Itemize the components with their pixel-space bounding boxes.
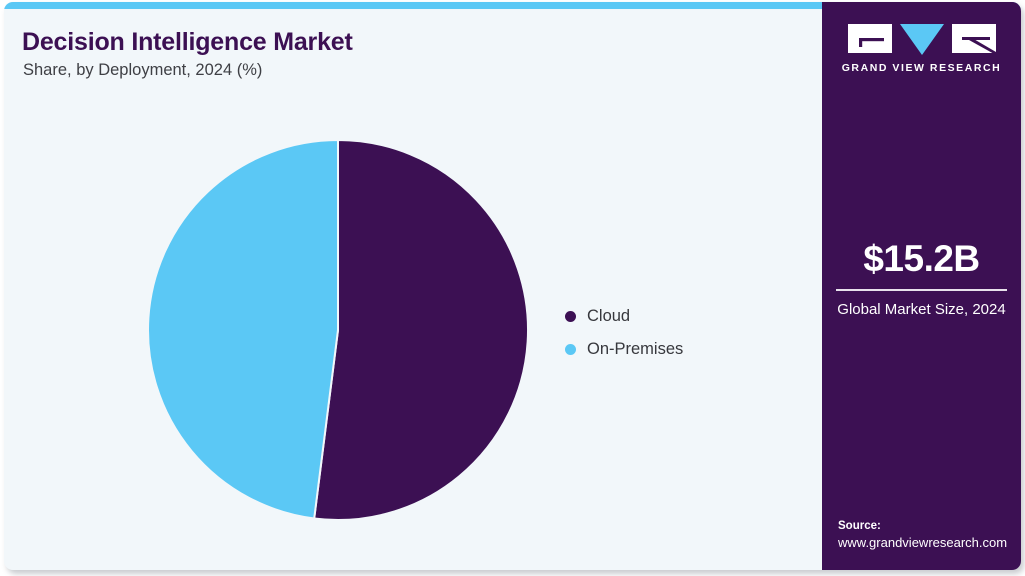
chart-legend: Cloud On-Premises <box>565 300 683 366</box>
source-url[interactable]: www.grandviewresearch.com <box>838 534 1021 552</box>
stat-value: $15.2B <box>822 240 1021 277</box>
pie-slice-on-premises[interactable] <box>148 140 338 519</box>
page-title: Decision Intelligence Market <box>22 28 353 57</box>
pie-slice-cloud[interactable] <box>314 140 528 520</box>
gvr-logo-icon <box>848 24 996 56</box>
stat-caption: Global Market Size, 2024 <box>822 300 1021 320</box>
pie-chart-svg <box>143 135 533 525</box>
source-block: Source: www.grandviewresearch.com <box>838 518 1021 552</box>
legend-item-cloud[interactable]: Cloud <box>565 300 683 333</box>
side-panel: GRAND VIEW RESEARCH $15.2B Global Market… <box>822 2 1021 570</box>
legend-swatch-icon <box>565 344 576 355</box>
pie-chart <box>143 135 533 525</box>
stat-divider <box>836 289 1007 291</box>
chart-card: Decision Intelligence Market Share, by D… <box>4 2 1021 570</box>
legend-item-label: On-Premises <box>587 340 683 359</box>
brand-wordmark: GRAND VIEW RESEARCH <box>822 62 1021 74</box>
legend-item-on-premises[interactable]: On-Premises <box>565 333 683 366</box>
chart-subtitle: Share, by Deployment, 2024 (%) <box>23 61 262 80</box>
source-label: Source: <box>838 518 1021 535</box>
brand-logo[interactable]: GRAND VIEW RESEARCH <box>822 24 1021 74</box>
legend-item-label: Cloud <box>587 307 630 326</box>
market-size-stat: $15.2B Global Market Size, 2024 <box>822 240 1021 320</box>
legend-swatch-icon <box>565 311 576 322</box>
